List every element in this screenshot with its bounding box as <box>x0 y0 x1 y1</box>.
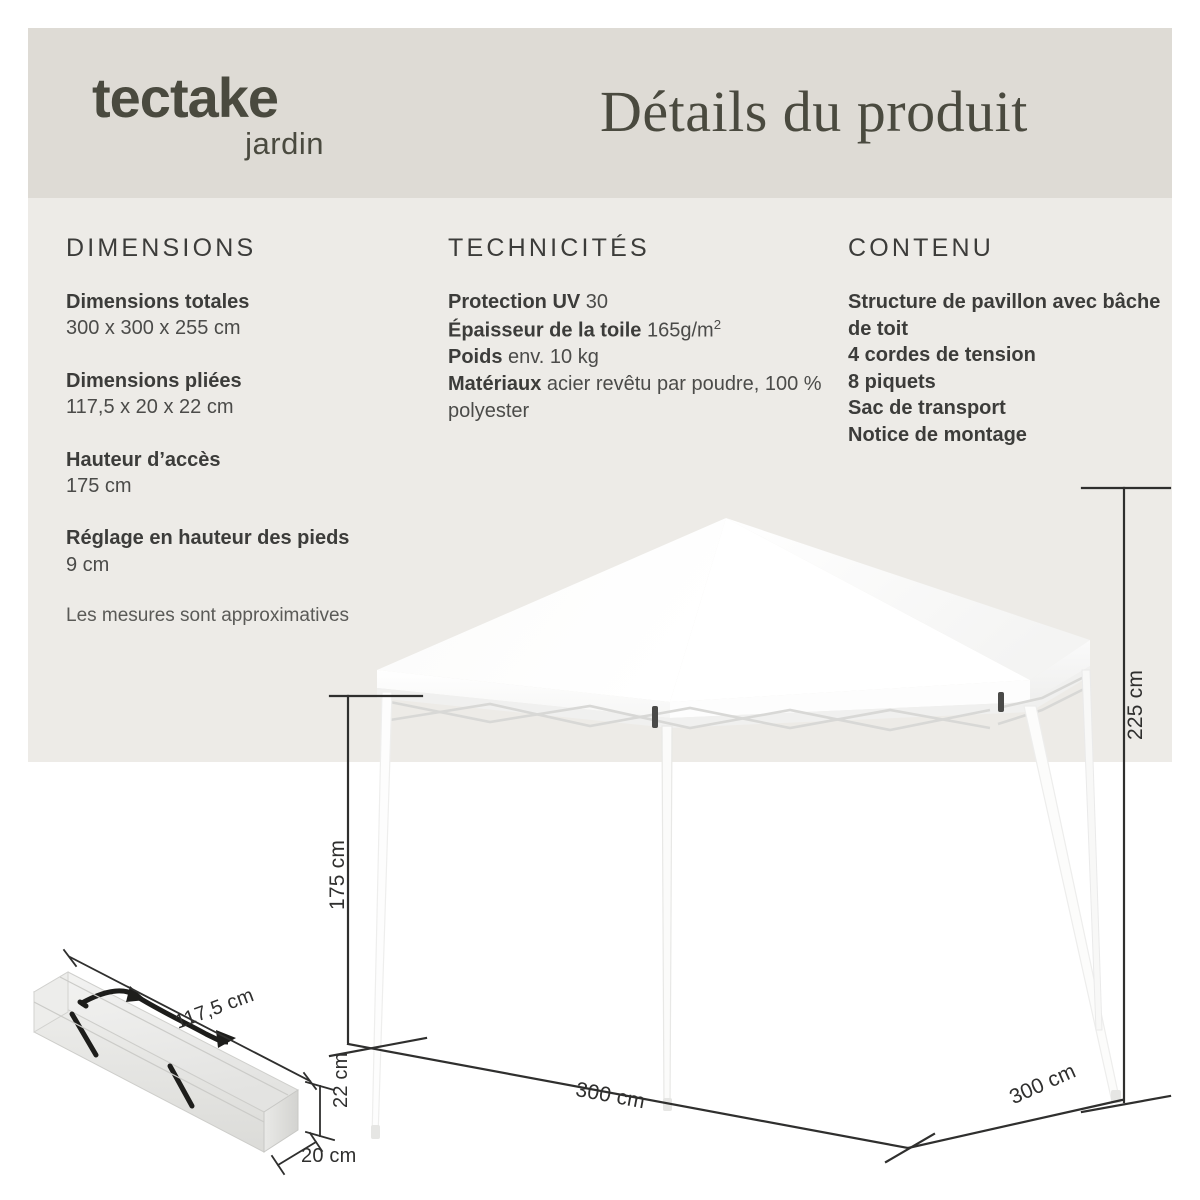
spec-value: 30 <box>580 291 608 313</box>
spec-line: Épaisseur de la toile 165g/m2 <box>448 316 828 344</box>
dimension-entry: Dimensions totales 300 x 300 x 255 cm <box>66 289 436 342</box>
dimension-label: Dimensions pliées <box>66 368 436 394</box>
gazebo-leg-center <box>662 726 672 1110</box>
kit-item: Structure de pavillon avec bâche de toit <box>848 289 1168 342</box>
brand-logo: tectake jardin <box>92 70 412 159</box>
dimension-label-height-total: 225 cm <box>1124 670 1148 740</box>
dimension-label-height-clearance: 175 cm <box>326 840 350 910</box>
spec-label: Épaisseur de la toile <box>448 319 641 341</box>
gazebo-leg-right <box>1024 706 1120 1102</box>
spec-label: Matériaux <box>448 373 541 395</box>
column-heading-contenu: CONTENU <box>848 236 1168 261</box>
gazebo-foot-caps <box>371 1090 1121 1139</box>
spec-value-superscript: 2 <box>714 317 721 332</box>
column-technicites: TECHNICITÉS Protection UV 30 Épaisseur d… <box>448 236 828 425</box>
dimtick-floor-corner <box>886 1134 934 1162</box>
kit-item: 8 piquets <box>848 369 1168 396</box>
carry-bag-illustration <box>20 930 420 1190</box>
spec-value: 165g/m <box>641 319 713 341</box>
spec-label: Protection UV <box>448 291 580 313</box>
gazebo-illustration <box>330 470 1170 1150</box>
spec-label: Poids <box>448 346 502 368</box>
dimension-value: 300 x 300 x 255 cm <box>66 315 436 341</box>
column-heading-dimensions: DIMENSIONS <box>66 236 436 261</box>
kit-item: Sac de transport <box>848 395 1168 422</box>
column-contenu: CONTENU Structure de pavillon avec bâche… <box>848 236 1168 449</box>
spec-line: Poids env. 10 kg <box>448 344 828 371</box>
dimtick-bag-length-end <box>304 1073 316 1089</box>
spec-line: Matériaux acier revêtu par poudre, 100 %… <box>448 371 828 425</box>
dimension-entry: Dimensions pliées 117,5 x 20 x 22 cm <box>66 368 436 421</box>
dimension-label-bag-height: 22 cm <box>330 1053 353 1108</box>
spec-value: env. 10 kg <box>502 346 598 368</box>
brand-name: tectake <box>92 70 412 126</box>
dimension-value: 117,5 x 20 x 22 cm <box>66 394 436 420</box>
brand-tagline: jardin <box>92 128 324 159</box>
dimension-label: Hauteur d’accès <box>66 447 436 473</box>
dimtick-bag-length-start <box>64 950 76 966</box>
canopy-roof-left <box>377 518 726 702</box>
dimtick-225-bottom <box>1082 1096 1170 1112</box>
column-heading-technicites: TECHNICITÉS <box>448 236 828 261</box>
dimtick-bag-depth-left <box>272 1156 284 1174</box>
dimension-label: Dimensions totales <box>66 289 436 315</box>
kit-item: Notice de montage <box>848 422 1168 449</box>
page-title: Détails du produit <box>600 78 1028 145</box>
kit-item: 4 cordes de tension <box>848 342 1168 369</box>
spec-line: Protection UV 30 <box>448 289 828 316</box>
dimension-label-bag-depth: 20 cm <box>301 1145 356 1168</box>
product-details-infographic: tectake jardin Détails du produit DIMENS… <box>0 0 1200 1200</box>
